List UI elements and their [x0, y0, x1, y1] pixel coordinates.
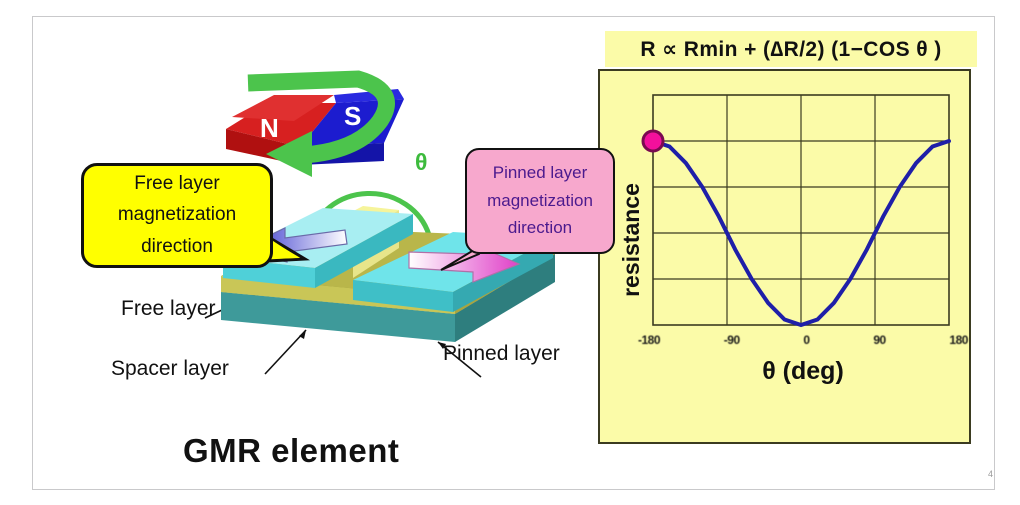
free-layer-callout[interactable]: Free layer magnetization direction [81, 163, 273, 268]
xtick-0: -180 [638, 333, 660, 347]
pinned-layer-label: Pinned layer [443, 342, 560, 366]
magnet-north-label: N [260, 113, 279, 143]
free-callout-line2: magnetization [118, 205, 236, 226]
xtick-3: 90 [873, 333, 885, 347]
chart-plot-area [653, 95, 949, 325]
x-axis-title: θ (deg) [653, 357, 953, 386]
chart-gridlines [653, 95, 949, 325]
page-number: 4 [988, 469, 993, 479]
pinned-callout-line3: direction [508, 219, 572, 238]
slide-title: GMR element [183, 432, 399, 470]
xtick-2: 0 [803, 333, 809, 347]
xtick-1: -90 [724, 333, 740, 347]
spacer-layer-label: Spacer layer [111, 357, 229, 381]
x-axis-tick-labels: -180 -90 0 90 180 [638, 333, 968, 353]
magnet-south-label: S [344, 101, 361, 131]
xtick-4: 180 [949, 333, 968, 347]
pinned-layer-callout[interactable]: Pinned layer magnetization direction [465, 148, 615, 254]
free-callout-line3: direction [141, 237, 213, 258]
free-callout-line1: Free layer [134, 174, 220, 195]
pinned-callout-line2: magnetization [487, 192, 593, 211]
slide-canvas: N S θ [32, 16, 995, 490]
free-layer-label: Free layer [121, 297, 216, 321]
resistance-formula: R ∝ Rmin + (∆R/2) (1−COS θ ) [605, 31, 977, 67]
rmax-marker [643, 131, 663, 151]
pinned-callout-line1: Pinned layer [493, 164, 588, 183]
